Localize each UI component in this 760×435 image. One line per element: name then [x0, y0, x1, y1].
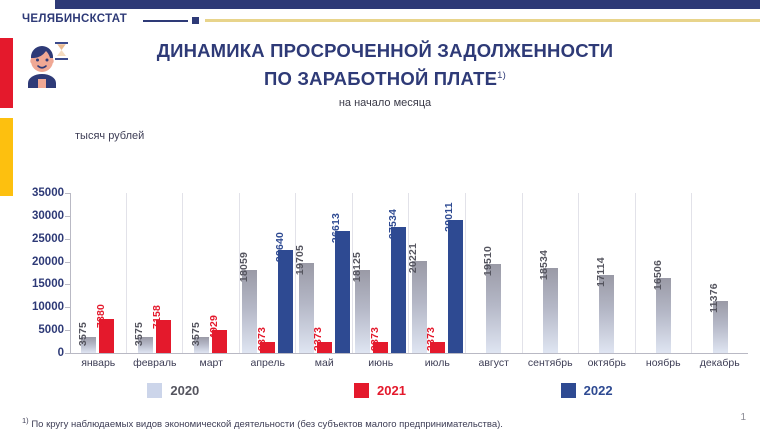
- month-label-сентябрь: сентябрь: [522, 357, 579, 369]
- bar-value-label: 7158: [151, 305, 163, 329]
- page-subtitle: на начало месяца: [95, 97, 675, 109]
- month-group: 19510: [466, 193, 523, 353]
- person-with-hourglass-icon: [22, 38, 70, 88]
- legend-label-2020: 2020: [170, 383, 199, 398]
- month-group: 19705237326613: [296, 193, 353, 353]
- brand-gold-line-decoration: [205, 19, 760, 22]
- bar-2020-июнь[interactable]: 18125: [355, 270, 370, 353]
- month-label-январь: январь: [70, 357, 127, 369]
- y-axis-labels: 05000100001500020000250003000035000: [0, 185, 64, 353]
- legend-item-2020[interactable]: 2020: [147, 383, 199, 398]
- month-label-декабрь: декабрь: [692, 357, 749, 369]
- plot-area: 3575738035757158357549291805923732264019…: [70, 193, 748, 353]
- month-group: 20221237329011: [409, 193, 466, 353]
- brand-row: ЧЕЛЯБИНСКСТАТ: [0, 9, 760, 31]
- bar-value-label: 7380: [95, 304, 107, 328]
- bar-2020-март[interactable]: 3575: [194, 337, 209, 353]
- month-label-май: май: [296, 357, 353, 369]
- legend-label-2022: 2022: [584, 383, 613, 398]
- y-axis-tick-label: 25000: [32, 233, 64, 245]
- month-group: 17114: [579, 193, 636, 353]
- bar-2020-декабрь[interactable]: 11376: [713, 301, 728, 353]
- bar-2022-июль[interactable]: 29011: [448, 220, 463, 353]
- y-axis-tick-label: 35000: [32, 187, 64, 199]
- title-line-2: ПО ЗАРАБОТНОЙ ПЛАТЕ1): [95, 63, 675, 91]
- y-axis-tick-label: 0: [58, 347, 64, 359]
- bar-value-label: 3575: [133, 322, 145, 346]
- y-axis-tick-label: 15000: [32, 278, 64, 290]
- bar-value-label: 26613: [330, 213, 342, 243]
- bar-cluster: 19705237326613: [296, 193, 352, 353]
- bar-value-label: 2373: [369, 327, 381, 351]
- x-axis-month-labels: январьфевральмартапрельмайиюньиюльавгуст…: [70, 357, 748, 369]
- title-line-1: ДИНАМИКА ПРОСРОЧЕННОЙ ЗАДОЛЖЕННОСТИ: [95, 38, 675, 63]
- month-label-март: март: [183, 357, 240, 369]
- month-group: 18534: [523, 193, 580, 353]
- bar-value-label: 22640: [274, 231, 286, 261]
- bar-value-label: 17114: [595, 257, 607, 287]
- legend-item-2021[interactable]: 2021: [354, 383, 406, 398]
- bar-cluster: 20221237329011: [409, 193, 465, 353]
- bar-cluster: 11376: [692, 193, 748, 353]
- month-group: 11376: [692, 193, 748, 353]
- month-label-октябрь: октябрь: [579, 357, 636, 369]
- y-axis-tick-label: 10000: [32, 301, 64, 313]
- legend-label-2021: 2021: [377, 383, 406, 398]
- bar-2020-январь[interactable]: 3575: [81, 337, 96, 353]
- y-axis-tick: [65, 284, 70, 285]
- page-title: ДИНАМИКА ПРОСРОЧЕННОЙ ЗАДОЛЖЕННОСТИ ПО З…: [95, 38, 675, 109]
- month-group: 18059237322640: [240, 193, 297, 353]
- month-group: 35757380: [70, 193, 127, 353]
- y-axis-tick: [65, 330, 70, 331]
- bar-cluster: 35757158: [127, 193, 183, 353]
- month-group: 16506: [636, 193, 693, 353]
- bar-value-label: 18534: [538, 250, 550, 280]
- month-label-февраль: февраль: [127, 357, 184, 369]
- bar-value-label: 27534: [387, 209, 399, 239]
- month-label-ноябрь: ноябрь: [635, 357, 692, 369]
- y-axis-tick: [65, 353, 70, 354]
- bar-value-label: 18059: [238, 252, 250, 282]
- month-group: 35754929: [183, 193, 240, 353]
- y-axis-tick-label: 20000: [32, 256, 64, 268]
- bar-cluster: 18125237327534: [353, 193, 409, 353]
- bar-value-label: 18125: [351, 252, 363, 282]
- bar-value-label: 11376: [708, 283, 720, 313]
- footnote-text: По кругу наблюдаемых видов экономической…: [31, 419, 503, 430]
- side-red-block: [0, 38, 13, 108]
- y-axis-tick: [65, 193, 70, 194]
- bar-2021-май[interactable]: 2373: [317, 342, 332, 353]
- bar-value-label: 19705: [294, 245, 306, 275]
- bar-2020-сентябрь[interactable]: 18534: [543, 268, 558, 353]
- top-accent-bar: [55, 0, 760, 9]
- bar-value-label: 2373: [312, 327, 324, 351]
- y-axis-tick-label: 5000: [38, 324, 64, 336]
- bar-2021-февраль[interactable]: 7158: [156, 320, 171, 353]
- bar-value-label: 3575: [190, 322, 202, 346]
- y-axis-tick: [65, 239, 70, 240]
- x-axis-line: [70, 353, 748, 354]
- bar-value-label: 3575: [77, 322, 89, 346]
- legend-item-2022[interactable]: 2022: [561, 383, 613, 398]
- legend-swatch-2020: [147, 383, 162, 398]
- units-label: тысяч рублей: [75, 130, 144, 142]
- footnote: 1) По кругу наблюдаемых видов экономичес…: [22, 414, 662, 431]
- bar-2021-март[interactable]: 4929: [212, 330, 227, 353]
- bar-cluster: 16506: [636, 193, 692, 353]
- brand-dash-decoration: [143, 20, 188, 22]
- footnote-marker: 1): [22, 416, 29, 425]
- bar-value-label: 29011: [443, 203, 455, 233]
- month-label-июль: июль: [409, 357, 466, 369]
- bar-2022-июнь[interactable]: 27534: [391, 227, 406, 353]
- title-line-2-text: ПО ЗАРАБОТНОЙ ПЛАТЕ: [264, 68, 497, 89]
- month-label-апрель: апрель: [240, 357, 297, 369]
- bar-2021-июнь[interactable]: 2373: [373, 342, 388, 353]
- bar-2020-октябрь[interactable]: 17114: [599, 275, 614, 353]
- month-label-август: август: [466, 357, 523, 369]
- y-axis-tick: [65, 307, 70, 308]
- bar-cluster: 19510: [466, 193, 522, 353]
- bar-value-label: 16506: [652, 259, 664, 289]
- bar-value-label: 2373: [425, 327, 437, 351]
- bar-value-label: 2373: [256, 327, 268, 351]
- bar-2020-апрель[interactable]: 18059: [242, 270, 257, 353]
- legend-swatch-2021: [354, 383, 369, 398]
- y-axis-tick: [65, 216, 70, 217]
- bar-cluster: 35754929: [183, 193, 239, 353]
- y-axis-tick-label: 30000: [32, 210, 64, 222]
- y-axis-tick: [65, 262, 70, 263]
- page-number: 1: [740, 412, 746, 423]
- legend-swatch-2022: [561, 383, 576, 398]
- bar-2020-февраль[interactable]: 3575: [138, 337, 153, 353]
- bar-cluster: 17114: [579, 193, 635, 353]
- bar-2022-апрель[interactable]: 22640: [278, 250, 293, 353]
- bar-cluster: 18534: [523, 193, 579, 353]
- bar-2022-май[interactable]: 26613: [335, 231, 350, 353]
- bar-2021-июль[interactable]: 2373: [430, 342, 445, 353]
- bar-value-label: 4929: [208, 315, 220, 339]
- bar-value-label: 20221: [407, 242, 419, 272]
- brand-name: ЧЕЛЯБИНСКСТАТ: [22, 13, 127, 25]
- bar-2021-январь[interactable]: 7380: [99, 319, 114, 353]
- title-footnote-marker: 1): [497, 70, 506, 81]
- month-group: 18125237327534: [353, 193, 410, 353]
- bar-2020-ноябрь[interactable]: 16506: [656, 278, 671, 353]
- bar-2020-август[interactable]: 19510: [486, 264, 501, 353]
- month-label-июнь: июнь: [353, 357, 410, 369]
- bar-2021-апрель[interactable]: 2373: [260, 342, 275, 353]
- bar-cluster: 35757380: [70, 193, 126, 353]
- bar-value-label: 19510: [482, 246, 494, 276]
- bar-chart: 05000100001500020000250003000035000 3575…: [0, 185, 760, 385]
- brand-square-marker-icon: [192, 17, 199, 24]
- chart-legend: 202020212022: [70, 383, 690, 398]
- month-group: 35757158: [127, 193, 184, 353]
- bar-cluster: 18059237322640: [240, 193, 296, 353]
